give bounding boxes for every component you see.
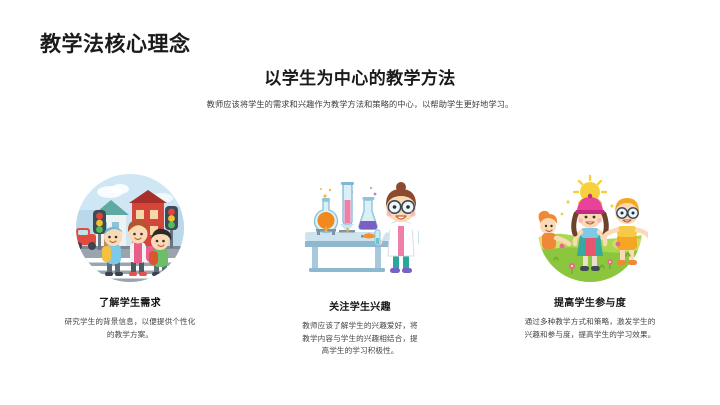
page-title: 教学法核心理念 bbox=[40, 28, 191, 58]
feature-description-3: 通过多种教学方式和策略，激发学生的兴趣和参与度，提高学生的学习效果。 bbox=[524, 316, 656, 341]
section-header: 以学生为中心的教学方法 教师应该将学生的需求和兴趣作为教学方法和策略的中心，以帮… bbox=[0, 68, 720, 111]
children-playing-outdoors-icon bbox=[530, 168, 650, 288]
feature-description-1: 研究学生的背景信息，以便提供个性化的教学方案。 bbox=[64, 316, 196, 341]
slide-root: 教学法核心理念 以学生为中心的教学方法 教师应该将学生的需求和兴趣作为教学方法和… bbox=[0, 0, 720, 405]
section-description: 教师应该将学生的需求和兴趣作为教学方法和策略的中心，以帮助学生更好地学习。 bbox=[0, 99, 720, 111]
child-scientist-lab-icon bbox=[300, 168, 420, 288]
feature-title-1: 了解学生需求 bbox=[99, 294, 161, 309]
feature-column-1: 了解学生需求 研究学生的背景信息，以便提供个性化的教学方案。 bbox=[30, 168, 230, 341]
feature-columns: 了解学生需求 研究学生的背景信息，以便提供个性化的教学方案。 bbox=[30, 168, 690, 358]
feature-title-3: 提高学生参与度 bbox=[554, 294, 626, 309]
feature-column-2: 关注学生兴趣 教师应该了解学生的兴趣爱好，将教学内容与学生的兴趣相结合，提高学生… bbox=[260, 168, 460, 358]
children-crossing-street-icon bbox=[70, 168, 190, 288]
feature-title-2: 关注学生兴趣 bbox=[329, 298, 391, 313]
feature-column-3: 提高学生参与度 通过多种教学方式和策略，激发学生的兴趣和参与度，提高学生的学习效… bbox=[490, 168, 690, 341]
feature-description-2: 教师应该了解学生的兴趣爱好，将教学内容与学生的兴趣相结合，提高学生的学习积极性。 bbox=[301, 320, 419, 358]
section-heading: 以学生为中心的教学方法 bbox=[0, 68, 720, 90]
